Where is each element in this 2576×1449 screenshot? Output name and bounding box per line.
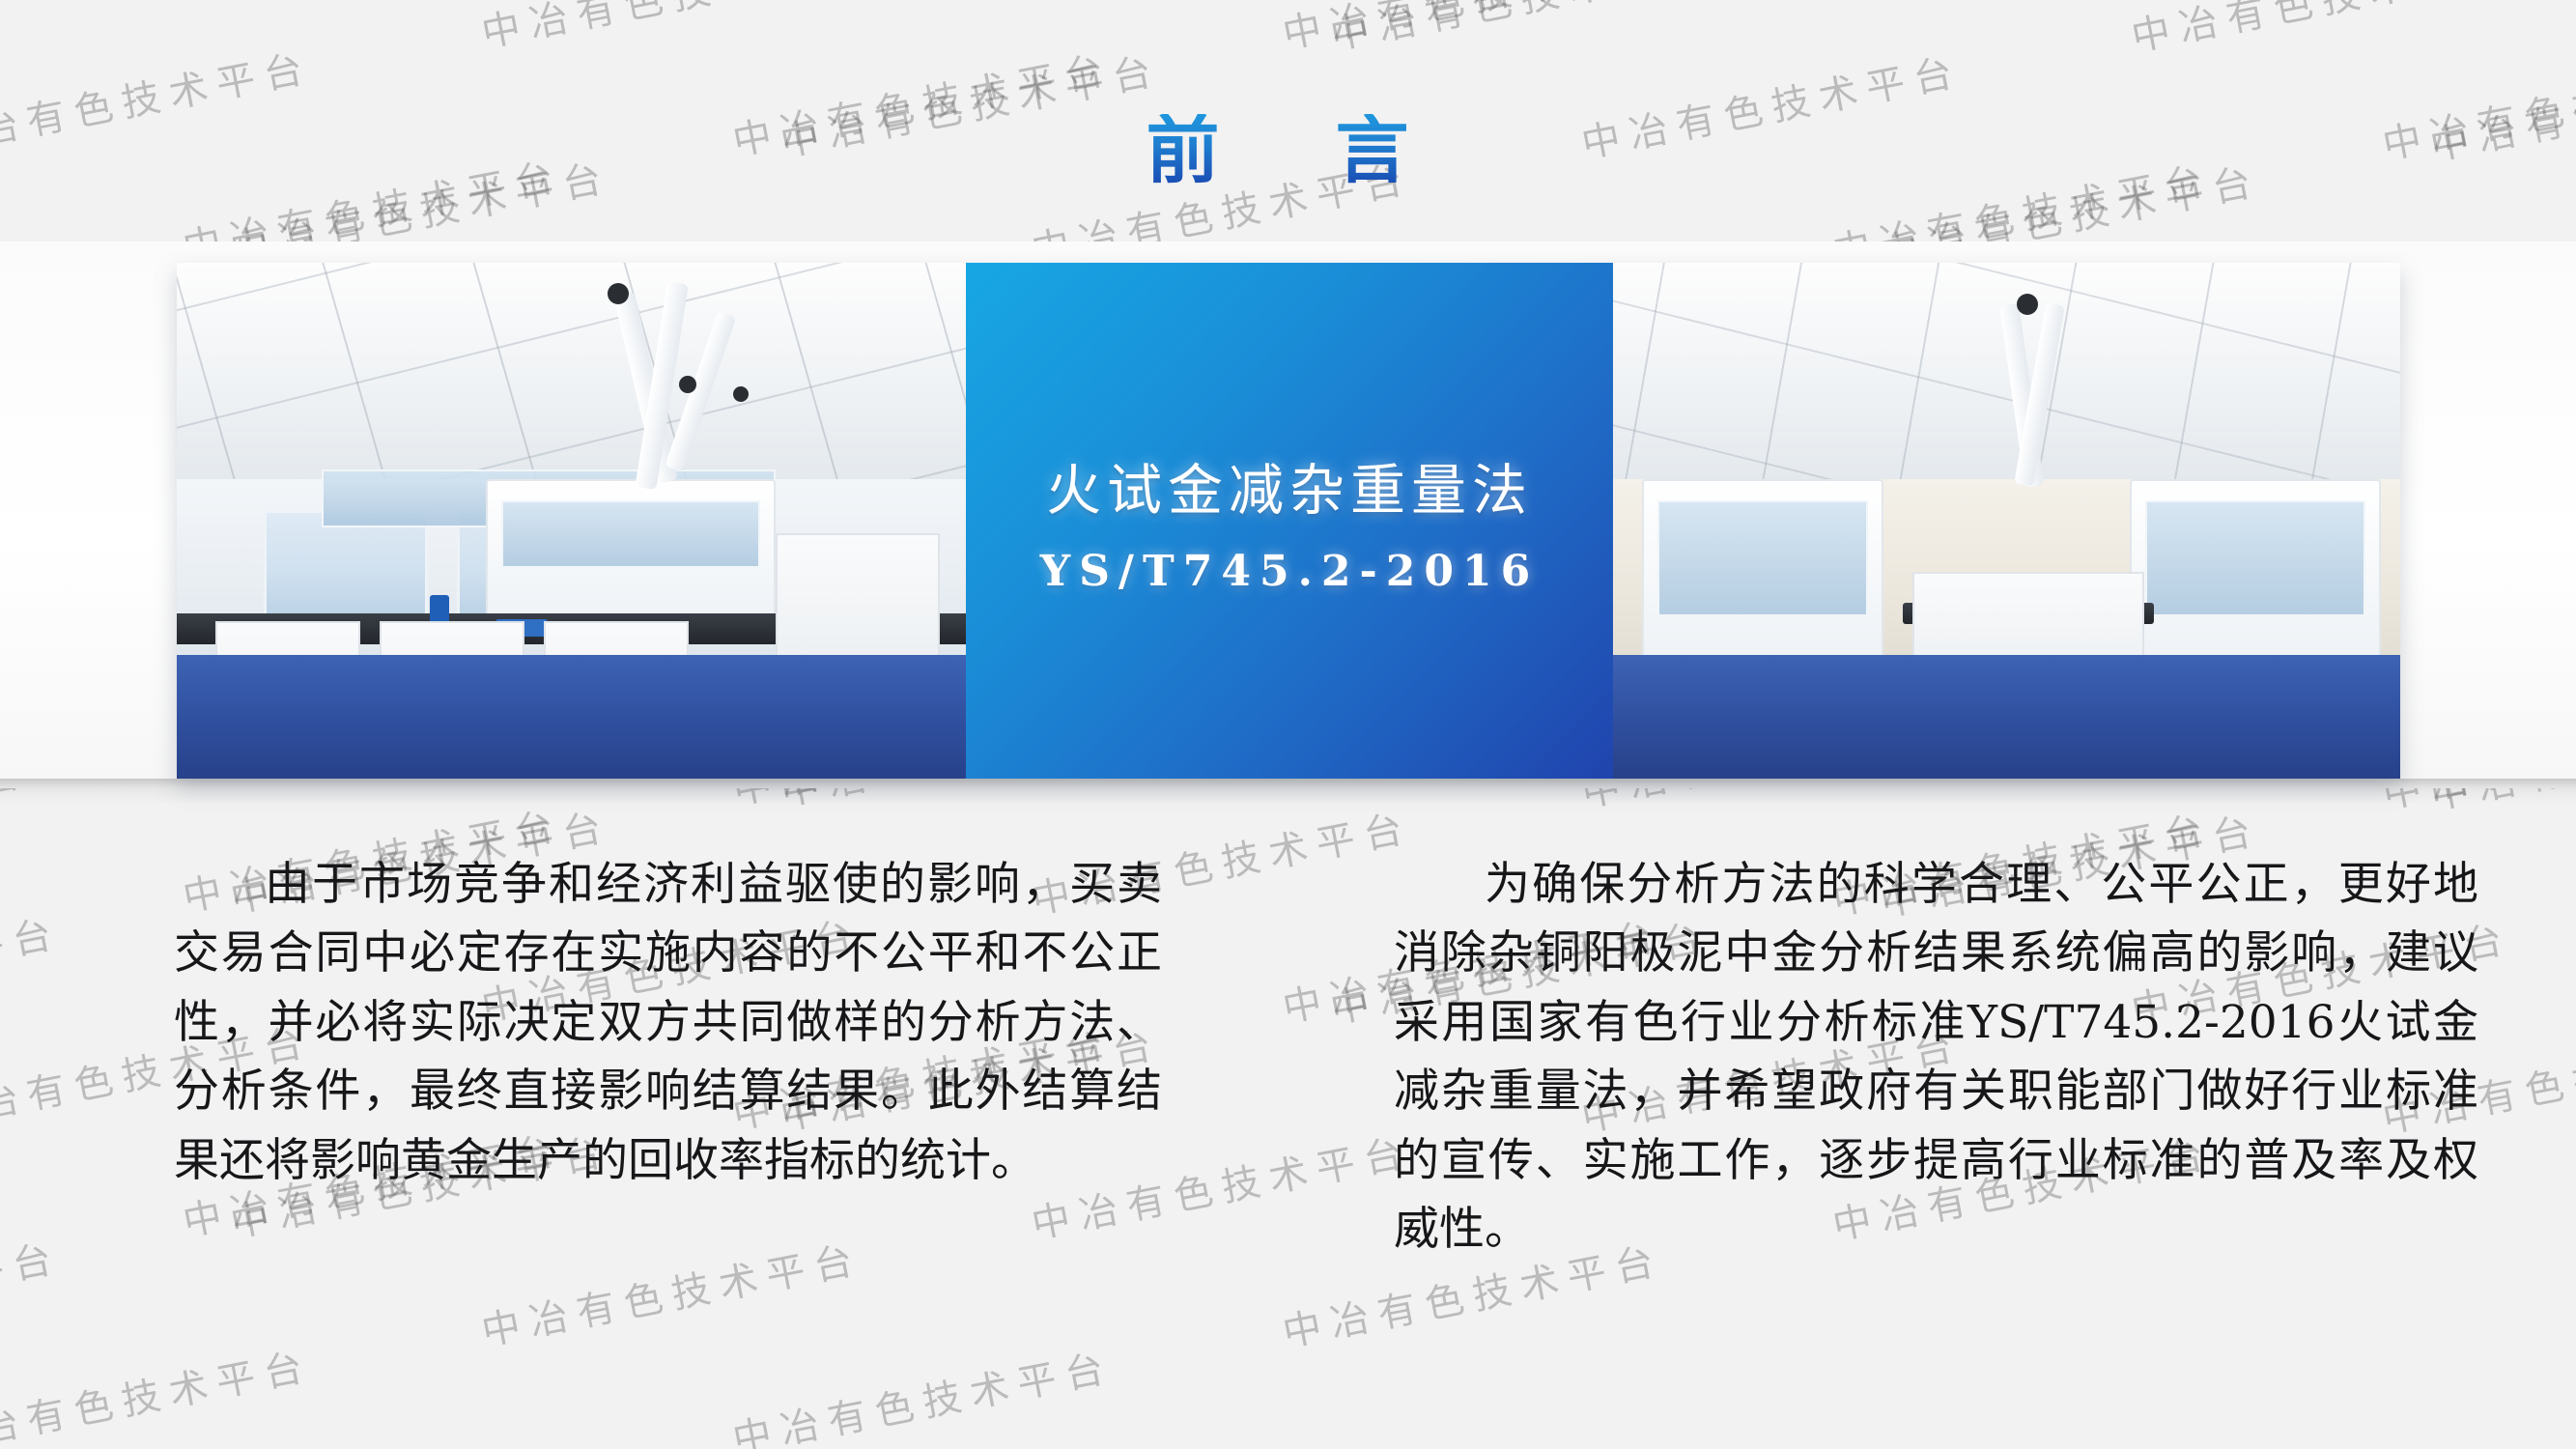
hero-photo-strip: 火试金减杂重量法 YS/T745.2-2016: [177, 263, 2400, 779]
lab-scene-left: [177, 263, 966, 779]
floor: [1613, 655, 2400, 779]
lab-scene-right: [1613, 263, 2400, 779]
page-title-wrap: 前 言: [0, 114, 2576, 187]
fume-hood-right-glass: [2145, 500, 2365, 616]
right-paragraph: 为确保分析方法的科学合理、公平公正，更好地消除杂铜阳极泥中金分析结果系统偏高的影…: [1355, 850, 2507, 1264]
fume-hood-glass: [501, 500, 760, 568]
hero-standard-code: YS/T745.2-2016: [1040, 547, 1540, 596]
fume-hood-left-glass: [1657, 500, 1868, 616]
hero-band-base: [0, 779, 2576, 788]
hero-method-title: 火试金减杂重量法: [1046, 446, 1533, 526]
body-columns: 由于市场竞争和经济利益驱使的影响，买卖交易合同中必定存在实施内容的不公平和不公正…: [0, 850, 2576, 1264]
hero-caption-panel: 火试金减杂重量法 YS/T745.2-2016: [966, 263, 1613, 779]
right-column: 为确保分析方法的科学合理、公平公正，更好地消除杂铜阳极泥中金分析结果系统偏高的影…: [1288, 850, 2575, 1264]
floor: [177, 655, 966, 779]
laboratory-photo-right: [1613, 263, 2400, 779]
arm-joint-center: [2017, 294, 2038, 315]
left-column: 由于市场竞争和经济利益驱使的影响，买卖交易合同中必定存在实施内容的不公平和不公正…: [0, 850, 1288, 1264]
page-title: 前 言: [1146, 114, 1430, 187]
left-paragraph: 由于市场竞争和经济利益驱使的影响，买卖交易合同中必定存在实施内容的不公平和不公正…: [68, 850, 1220, 1195]
watermark-text: 中冶有色技术平台 中冶有色技术平台 中冶有色技术平台 中冶有色技术平台 中冶有色…: [0, 0, 2576, 55]
laboratory-photo-left: [177, 263, 966, 779]
